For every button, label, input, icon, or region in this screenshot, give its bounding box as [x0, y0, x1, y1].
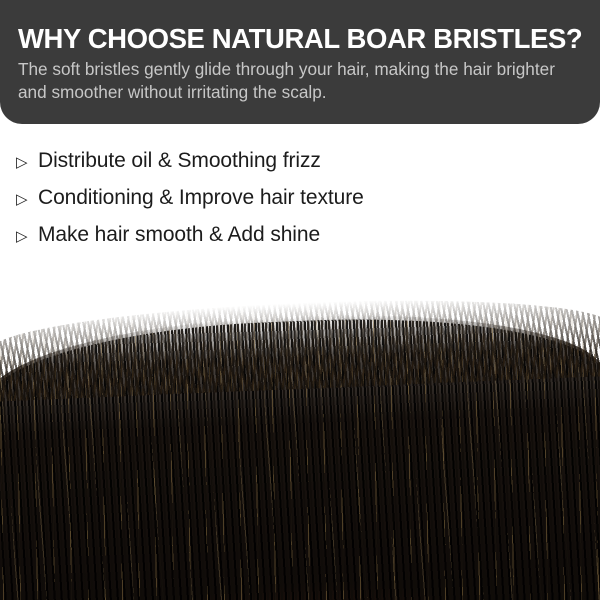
triangle-bullet-icon: ▷: [16, 229, 38, 244]
list-item-label: Distribute oil & Smoothing frizz: [38, 150, 321, 171]
list-item: ▷ Conditioning & Improve hair texture: [16, 187, 536, 224]
triangle-bullet-icon: ▷: [16, 155, 38, 170]
bristle-block: [0, 291, 600, 600]
promo-infographic: WHY CHOOSE NATURAL BOAR BRISTLES? The so…: [0, 0, 600, 600]
benefits-list: ▷ Distribute oil & Smoothing frizz ▷ Con…: [16, 150, 536, 261]
list-item-label: Make hair smooth & Add shine: [38, 224, 320, 245]
page-title: WHY CHOOSE NATURAL BOAR BRISTLES?: [18, 24, 582, 54]
list-item-label: Conditioning & Improve hair texture: [38, 187, 364, 208]
product-photo: [0, 275, 600, 600]
triangle-bullet-icon: ▷: [16, 192, 38, 207]
list-item: ▷ Distribute oil & Smoothing frizz: [16, 150, 536, 187]
header-subtitle: The soft bristles gently glide through y…: [18, 58, 563, 104]
header-banner: WHY CHOOSE NATURAL BOAR BRISTLES? The so…: [0, 0, 600, 124]
list-item: ▷ Make hair smooth & Add shine: [16, 224, 536, 261]
